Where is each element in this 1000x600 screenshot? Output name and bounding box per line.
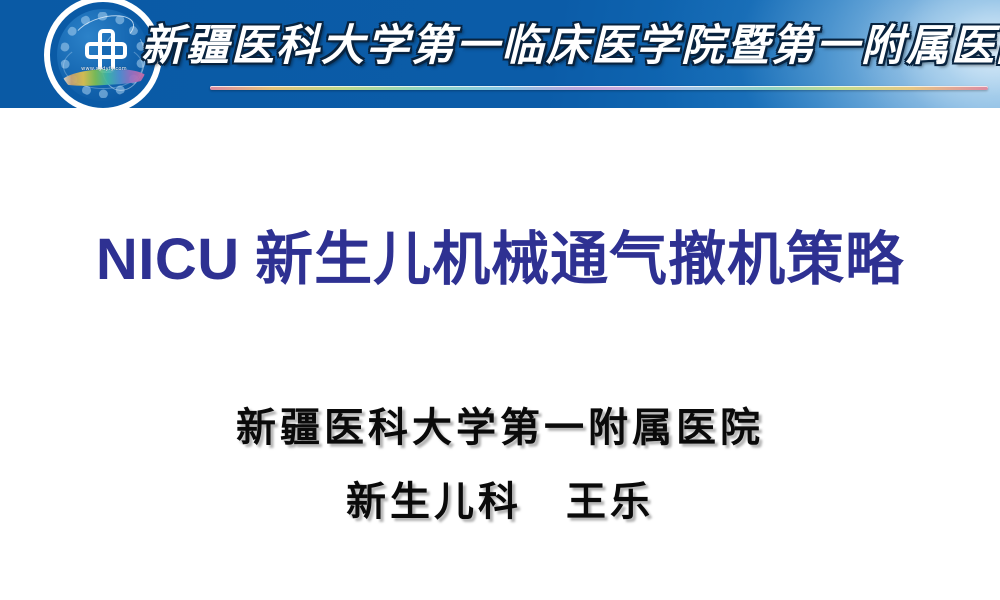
page-title-space (240, 227, 256, 292)
page-title-latin: NICU (96, 227, 240, 292)
page-title: NICU 新生儿机械通气撤机策略 (0, 212, 1000, 296)
presenter-affiliation: 新疆医科大学第一附属医院 (0, 391, 1000, 465)
presentation-slide: www.xydyfy.com 新疆医科大学第一临床医学院暨第一附属医院 NICU… (0, 0, 1000, 600)
slide-body: NICU 新生儿机械通气撤机策略 新疆医科大学第一附属医院 新生儿科 王乐 (0, 108, 1000, 600)
presenter-department-and-name: 新生儿科 王乐 (0, 465, 1000, 539)
slide-header-band: www.xydyfy.com 新疆医科大学第一临床医学院暨第一附属医院 (0, 0, 1000, 108)
rainbow-divider (210, 86, 988, 90)
page-title-cjk: 新生儿机械通气撤机策略 (255, 227, 904, 292)
institution-name: 新疆医科大学第一临床医学院暨第一附属医院 (196, 11, 986, 73)
presenter-block: 新疆医科大学第一附属医院 新生儿科 王乐 (0, 391, 1000, 539)
